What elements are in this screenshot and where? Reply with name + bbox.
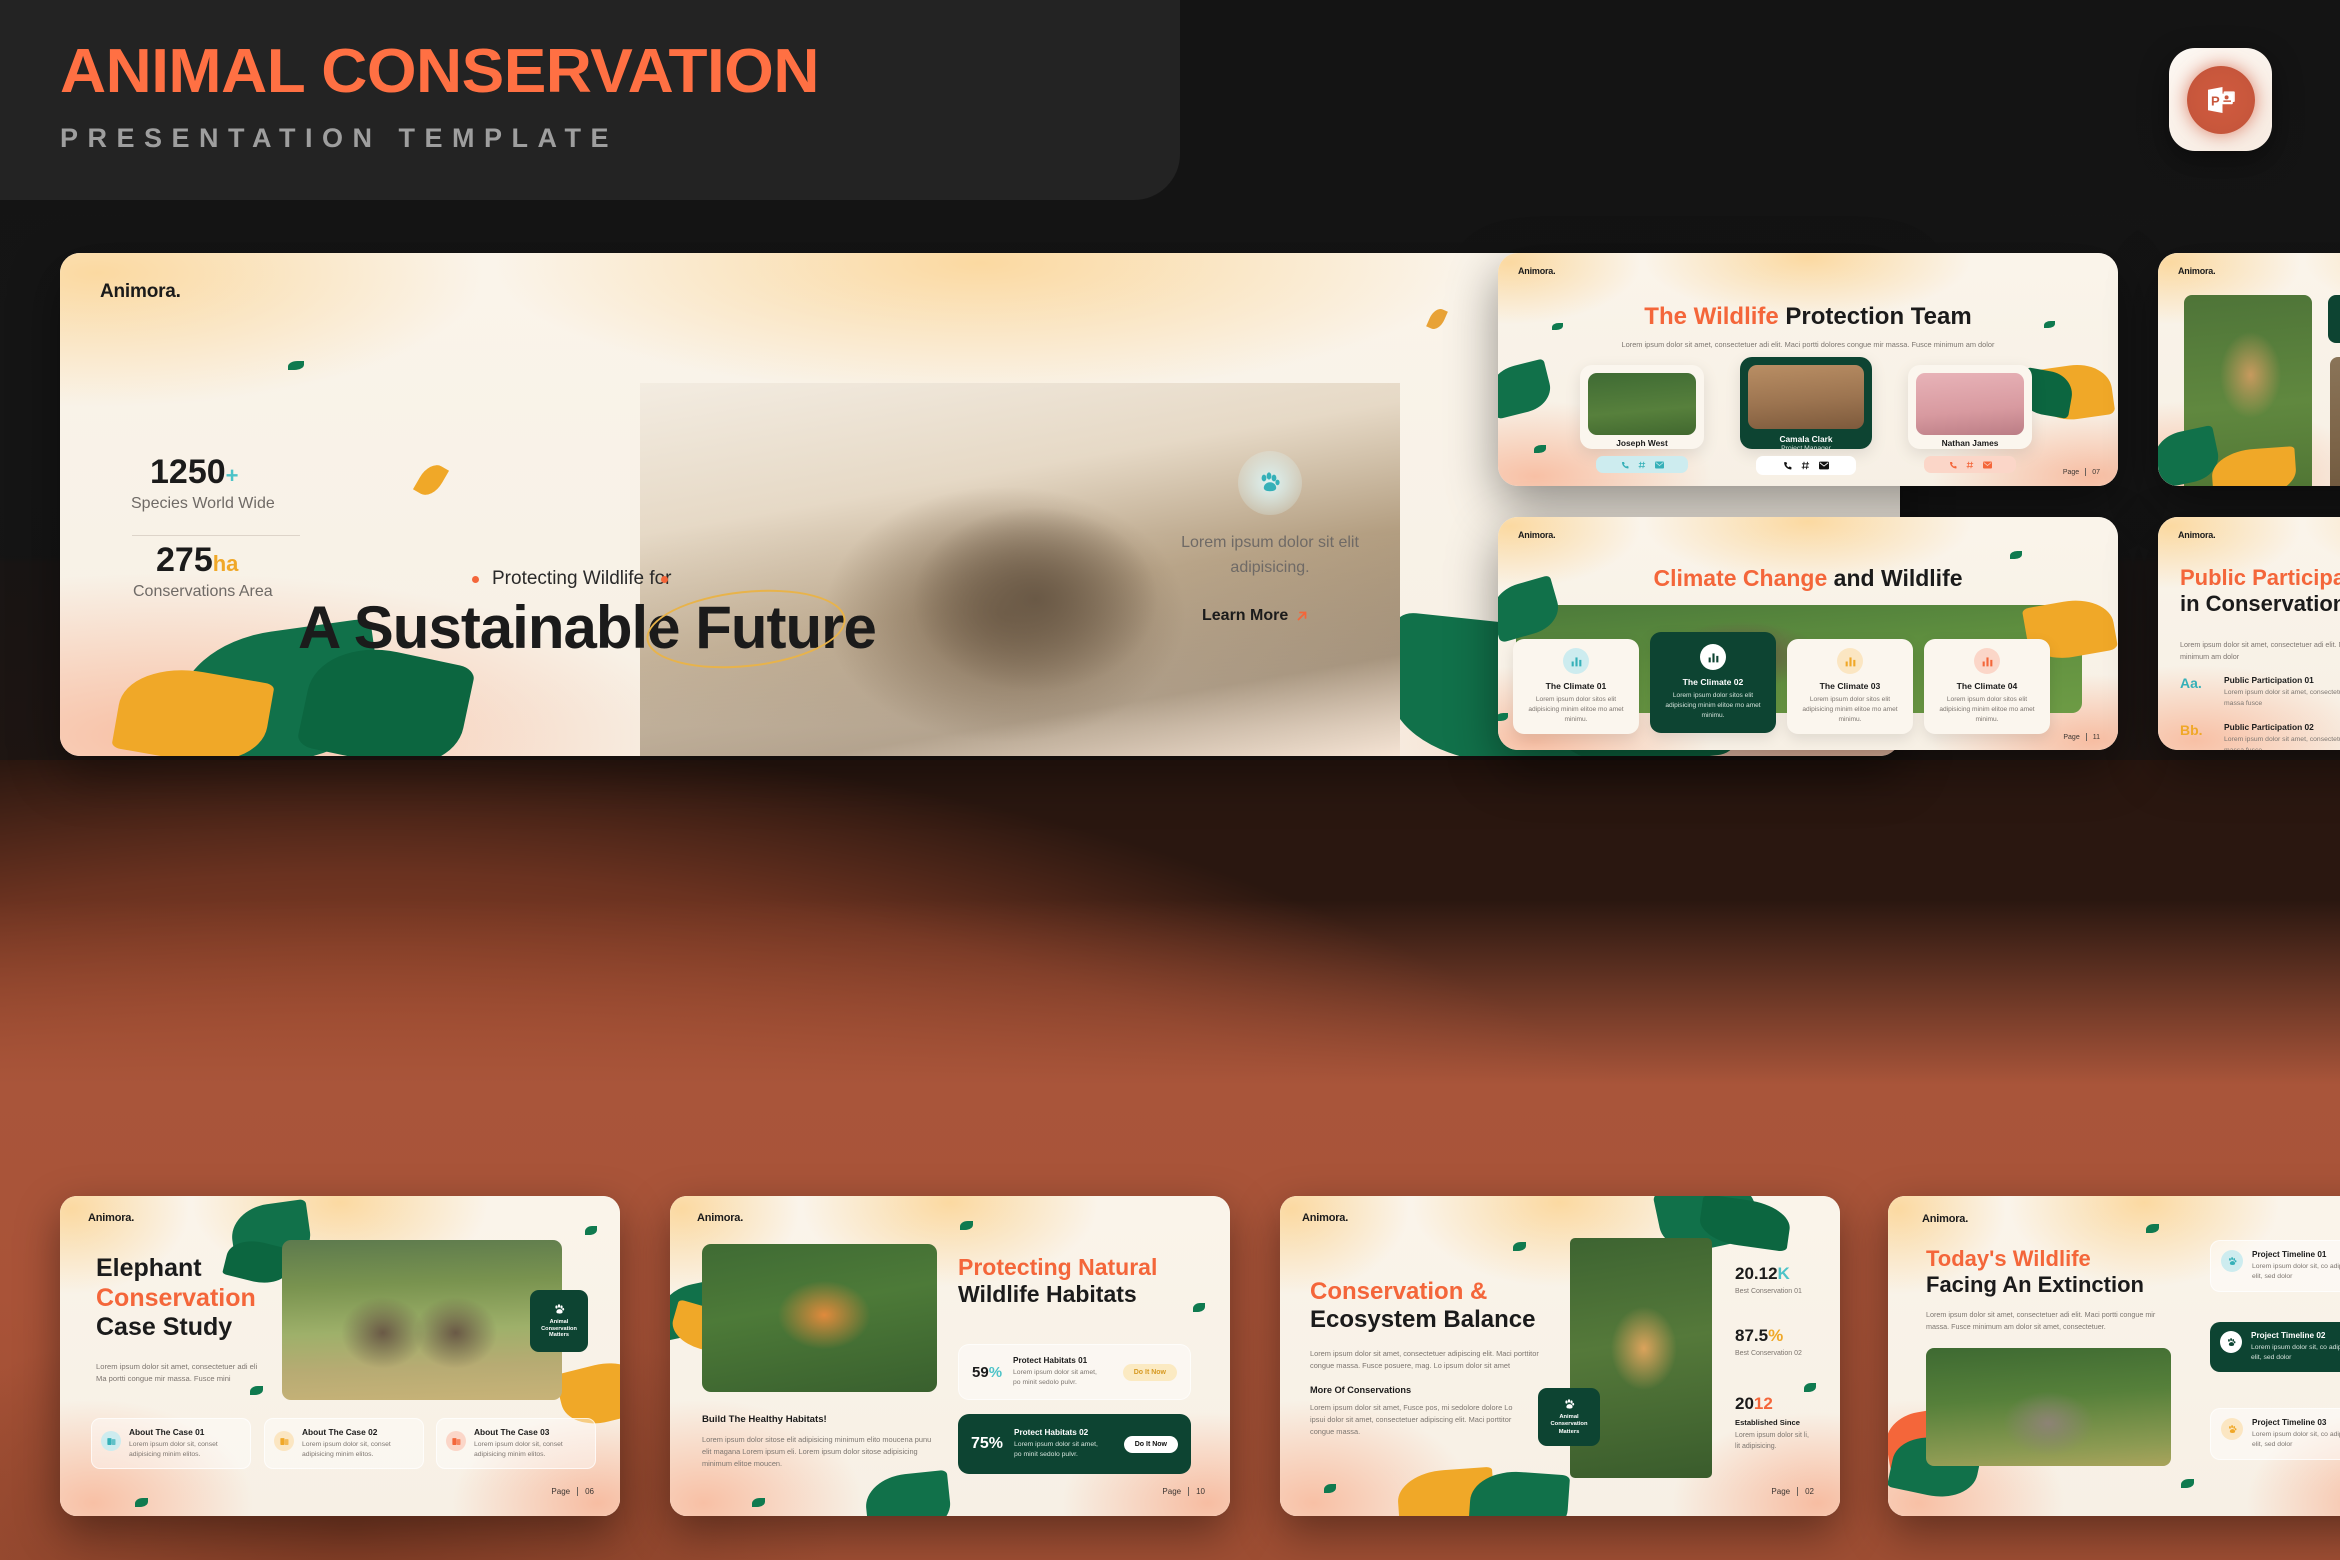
- team-member-card[interactable]: Camala Clark Project Manager: [1740, 357, 1872, 449]
- climate-card-icon-wrap: [1974, 648, 2000, 674]
- public-item-title: Public Participation 02: [2224, 722, 2340, 732]
- habitats-row-percent-value: 59: [972, 1364, 989, 1381]
- team-member-name: Joseph West: [1580, 438, 1704, 448]
- climate-card-desc: Lorem ipsum dolor sitos elit adipisicing…: [1795, 695, 1905, 725]
- team-member-contact-pill[interactable]: [1924, 456, 2016, 473]
- eco-brand: Animora.: [1302, 1212, 1348, 1224]
- hero-stat-2-unit: ha: [213, 551, 239, 576]
- phone-icon: [1783, 461, 1792, 470]
- team-title-accent: The Wildlife: [1644, 303, 1785, 330]
- case-page-value: 06: [585, 1487, 594, 1496]
- team-brand: Animora.: [1518, 266, 1555, 276]
- climate-card-desc: Lorem ipsum dolor sitos elit adipisicing…: [1521, 695, 1631, 725]
- lion-brand: Animora.: [2178, 266, 2215, 276]
- habitats-row-button[interactable]: Do It Now: [1124, 1436, 1178, 1453]
- case-conservation-badge: Animal Conservation Matters: [530, 1290, 588, 1352]
- team-member-photo: [1588, 373, 1696, 435]
- team-member-contact-pill[interactable]: [1756, 456, 1856, 475]
- slide-elephant-case-study[interactable]: Animora. Animal Conservation Matters Ele…: [60, 1196, 620, 1516]
- bottom-slide-row: Animora. Animal Conservation Matters Ele…: [60, 1196, 2340, 1516]
- hero-stat-divider: [132, 535, 300, 536]
- habitats-row-button[interactable]: Do It Now: [1123, 1364, 1177, 1381]
- public-subtitle: Lorem ipsum dolor sit amet, consectetuer…: [2180, 639, 2340, 662]
- extinction-body: Lorem ipsum dolor sit amet, consectetuer…: [1926, 1309, 2168, 1332]
- hero-stat-2-value: 275ha: [156, 541, 238, 580]
- climate-card-title: The Climate 04: [1932, 681, 2042, 691]
- habitats-row-title: Protect Habitats 02: [1014, 1428, 1113, 1437]
- team-title-rest: Protection Team: [1785, 303, 1971, 330]
- paw-icon: [1257, 470, 1283, 496]
- team-page-value: 07: [2092, 469, 2100, 476]
- lion-photo-secondary: [2330, 357, 2340, 486]
- eco-stat-value: 20.12K: [1735, 1264, 1802, 1284]
- slide-facing-extinction[interactable]: Animora. Today's Wildlife Facing An Exti…: [1888, 1196, 2340, 1516]
- habitats-headline-2: Wildlife Habitats: [958, 1281, 1137, 1307]
- climate-card-title: The Climate 03: [1795, 681, 1905, 691]
- eco-body: Lorem ipsum dolor sit amet, consectetuer…: [1310, 1348, 1546, 1372]
- phone-icon: [1949, 461, 1957, 469]
- paw-icon: [2227, 1424, 2238, 1435]
- case-card[interactable]: About The Case 01 Lorem ipsum dolor sit,…: [91, 1418, 251, 1469]
- hero-stat-1-label: Species World Wide: [131, 495, 275, 513]
- eco-sub-body: Lorem ipsum dolor sit amet, Fusce pos, m…: [1310, 1402, 1520, 1438]
- case-card[interactable]: About The Case 02 Lorem ipsum dolor sit,…: [264, 1418, 424, 1469]
- page-title: ANIMAL CONSERVATION: [60, 40, 819, 103]
- timeline-icon-wrap: [2220, 1331, 2242, 1353]
- habitats-row-percent-unit: %: [989, 1364, 1002, 1381]
- habitats-tiger-photo: [702, 1244, 937, 1392]
- climate-card-icon-wrap: [1700, 644, 1726, 670]
- hero-stat-2-label: Conservations Area: [133, 583, 273, 601]
- public-item-desc: Lorem ipsum dolor sit amet, consectetuer…: [2224, 688, 2340, 709]
- team-member-photo: [1748, 365, 1864, 429]
- slide-lion-gallery[interactable]: Animora.: [2158, 253, 2340, 486]
- powerpoint-icon: P: [2187, 66, 2255, 134]
- hero-learn-more-link[interactable]: Learn More: [1202, 607, 1309, 625]
- case-card-desc: Lorem ipsum dolor sit, conset adipisicin…: [474, 1440, 586, 1460]
- eco-stat-value: 2012: [1735, 1394, 1815, 1414]
- paw-icon: [2227, 1256, 2238, 1267]
- powerpoint-badge[interactable]: P: [2169, 48, 2272, 151]
- climate-page-value: 11: [2093, 734, 2100, 741]
- extinction-headline: Today's Wildlife Facing An Extinction: [1926, 1246, 2144, 1298]
- eco-stat: 20.12K Best Conservation 01: [1735, 1264, 1802, 1295]
- habitats-row-percent: 75%: [971, 1435, 1003, 1453]
- slide-ecosystem-balance[interactable]: Animora. Animal Conservation Matters Con…: [1280, 1196, 1840, 1516]
- habitats-row-desc: Lorem ipsum dolor sit amet, po minit sed…: [1013, 1368, 1105, 1388]
- extinction-timeline-card[interactable]: Project Timeline 01 Lorem ipsum dolor si…: [2210, 1240, 2340, 1292]
- case-card-desc: Lorem ipsum dolor sit, conset adipisicin…: [129, 1440, 241, 1460]
- public-item[interactable]: Bb. Public Participation 02 Lorem ipsum …: [2180, 722, 2340, 750]
- eco-badge-text: Animal Conservation Matters: [1543, 1414, 1595, 1436]
- hash-icon: [1638, 461, 1646, 469]
- eco-page-value: 02: [1805, 1487, 1814, 1496]
- eco-headline: Conservation & Ecosystem Balance: [1310, 1278, 1535, 1335]
- climate-card-desc: Lorem ipsum dolor sitos elit adipisicing…: [1658, 691, 1768, 721]
- public-item-letter: Bb.: [2180, 722, 2214, 750]
- team-page-word: Page: [2063, 469, 2079, 476]
- case-card-title: About The Case 02: [302, 1427, 414, 1437]
- timeline-icon-wrap: [2221, 1418, 2243, 1440]
- timeline-title: Project Timeline 03: [2252, 1418, 2340, 1427]
- page-header: ANIMAL CONSERVATION PRESENTATION TEMPLAT…: [60, 40, 797, 154]
- eco-headline-2: Ecosystem Balance: [1310, 1306, 1535, 1333]
- eco-stat-value: 87.5%: [1735, 1326, 1802, 1346]
- eco-stat-extra: Lorem ipsum dolor sit li, lit adipisicin…: [1735, 1431, 1815, 1453]
- hash-icon: [1801, 461, 1810, 470]
- climate-title-accent: Climate Change: [1653, 565, 1833, 591]
- team-page-number: Page 07: [2063, 468, 2100, 476]
- climate-card[interactable]: The Climate 01 Lorem ipsum dolor sitos e…: [1513, 639, 1639, 734]
- case-headline-3: Case Study: [96, 1313, 232, 1341]
- mail-icon: [1983, 461, 1992, 469]
- mail-icon: [1819, 461, 1829, 470]
- case-card-icon-wrap: [101, 1431, 121, 1451]
- slide-wildlife-protection-team[interactable]: Animora. The Wildlife Protection Team Lo…: [1498, 253, 2118, 486]
- case-card-title: About The Case 03: [474, 1427, 586, 1437]
- case-card[interactable]: About The Case 03 Lorem ipsum dolor sit,…: [436, 1418, 596, 1469]
- public-brand: Animora.: [2178, 530, 2215, 540]
- timeline-title: Project Timeline 02: [2251, 1331, 2340, 1340]
- team-member-name: Camala Clark: [1740, 434, 1872, 444]
- case-brand: Animora.: [88, 1212, 134, 1224]
- habitats-row-percent-value: 75: [971, 1435, 989, 1452]
- hero-learn-more-label: Learn More: [1202, 607, 1288, 625]
- team-member-photo: [1916, 373, 2024, 435]
- extinction-timeline-card[interactable]: Project Timeline 03 Lorem ipsum dolor si…: [2210, 1408, 2340, 1460]
- hero-kicker: Protecting Wildlife for: [492, 568, 672, 590]
- case-headline-2: Conservation: [96, 1284, 256, 1312]
- climate-card-icon-wrap: [1837, 648, 1863, 674]
- bar-chart-icon: [1844, 655, 1857, 668]
- case-body: Lorem ipsum dolor sit amet, consectetuer…: [96, 1361, 261, 1385]
- case-elephant-photo: [282, 1240, 562, 1400]
- climate-title: Climate Change and Wildlife: [1498, 565, 2118, 592]
- case-card-desc: Lorem ipsum dolor sit, conset adipisicin…: [302, 1440, 414, 1460]
- hero-stat-1-value: 1250+: [150, 453, 239, 492]
- bar-chart-icon: [1707, 651, 1720, 664]
- timeline-desc: Lorem ipsum dolor sit, co adipisicing el…: [2252, 1262, 2340, 1282]
- extinction-headline-1: Today's Wildlife: [1926, 1246, 2091, 1271]
- eco-page-number: Page 02: [1771, 1487, 1814, 1496]
- hero-stat-2-number: 275: [156, 541, 213, 579]
- eco-sub-title: More Of Conservations: [1310, 1385, 1411, 1395]
- eco-page-word: Page: [1771, 1487, 1790, 1496]
- case-page-number: Page 06: [551, 1487, 594, 1496]
- habitats-headline-1: Protecting Natural: [958, 1254, 1157, 1280]
- team-title: The Wildlife Protection Team: [1498, 303, 2118, 331]
- habitats-row[interactable]: 59% Protect Habitats 01 Lorem ipsum dolo…: [958, 1344, 1191, 1400]
- eco-stat-number: 20.12: [1735, 1264, 1778, 1283]
- habitats-sub-title: Build The Healthy Habitats!: [702, 1414, 827, 1425]
- eco-stat-number: 87.5: [1735, 1326, 1768, 1345]
- eco-stat: 87.5% Best Conservation 02: [1735, 1326, 1802, 1357]
- hero-kicker-dot-right: [661, 576, 668, 583]
- page-subtitle: PRESENTATION TEMPLATE: [60, 123, 797, 154]
- team-member-card[interactable]: Joseph West Company Co-Founder: [1580, 365, 1704, 449]
- team-subtitle: Lorem ipsum dolor sit amet, consectetuer…: [1562, 339, 2054, 350]
- case-card-icon-wrap: [446, 1431, 466, 1451]
- climate-card-icon-wrap: [1563, 648, 1589, 674]
- extinction-headline-2: Facing An Extinction: [1926, 1272, 2144, 1297]
- habitats-page-number: Page 10: [1162, 1487, 1205, 1496]
- book-icon: [451, 1436, 462, 1447]
- habitats-row-percent-unit: %: [989, 1435, 1003, 1452]
- timeline-desc: Lorem ipsum dolor sit, co adipisicing el…: [2252, 1430, 2340, 1450]
- hero-stat-1-unit: +: [226, 463, 239, 488]
- public-item[interactable]: Aa. Public Participation 01 Lorem ipsum …: [2180, 675, 2340, 709]
- timeline-icon-wrap: [2221, 1250, 2243, 1272]
- hero-kicker-dot-left: [472, 576, 479, 583]
- bar-chart-icon: [1981, 655, 1994, 668]
- habitats-page-value: 10: [1196, 1487, 1205, 1496]
- eco-stat-suffix: 12: [1754, 1394, 1773, 1413]
- habitats-row-percent: 59%: [972, 1364, 1002, 1381]
- extinction-brand: Animora.: [1922, 1213, 1968, 1225]
- eco-stat-suffix: K: [1778, 1264, 1790, 1283]
- book-icon: [106, 1436, 117, 1447]
- climate-card-desc: Lorem ipsum dolor sitos elit adipisicing…: [1932, 695, 2042, 725]
- climate-card-title: The Climate 01: [1521, 681, 1631, 691]
- climate-brand: Animora.: [1518, 530, 1555, 540]
- slide-public-participation[interactable]: Animora. Public Participation in Conserv…: [2158, 517, 2340, 750]
- eco-stat-label: Best Conservation 01: [1735, 1288, 1802, 1295]
- paw-icon: [1563, 1398, 1576, 1411]
- eco-conservation-badge: Animal Conservation Matters: [1538, 1388, 1600, 1446]
- case-badge-text: Animal Conservation Matters: [535, 1319, 583, 1340]
- public-item-title: Public Participation 01: [2224, 675, 2340, 685]
- case-page-word: Page: [551, 1487, 570, 1496]
- timeline-desc: Lorem ipsum dolor sit, co adipisicing el…: [2251, 1343, 2340, 1363]
- public-headline-2: in Conservation: [2180, 591, 2340, 616]
- hero-brand: Animora.: [100, 281, 181, 303]
- paw-icon: [2226, 1337, 2237, 1348]
- habitats-brand: Animora.: [697, 1212, 743, 1224]
- bar-chart-icon: [1570, 655, 1583, 668]
- climate-title-rest: and Wildlife: [1834, 565, 1963, 591]
- extinction-timeline-card[interactable]: Project Timeline 02 Lorem ipsum dolor si…: [2210, 1322, 2340, 1372]
- public-item-letter: Aa.: [2180, 675, 2214, 709]
- hash-icon: [1966, 461, 1974, 469]
- slide-protecting-habitats[interactable]: Animora. Protecting Natural Wildlife Hab…: [670, 1196, 1230, 1516]
- habitats-row-desc: Lorem ipsum dolor sit amet, po minit sed…: [1014, 1440, 1106, 1460]
- hero-body-text: Lorem ipsum dolor sit elit adipisicing.: [1170, 531, 1370, 581]
- svg-text:P: P: [2211, 93, 2220, 108]
- team-member-contact-pill[interactable]: [1596, 456, 1688, 473]
- arrow-up-right-icon: [1295, 609, 1309, 623]
- hero-stat-1-number: 1250: [150, 453, 226, 491]
- team-member-name: Nathan James: [1908, 438, 2032, 448]
- case-headline: Elephant Conservation Case Study: [96, 1254, 256, 1343]
- case-card-title: About The Case 01: [129, 1427, 241, 1437]
- habitats-headline: Protecting Natural Wildlife Habitats: [958, 1254, 1157, 1308]
- extinction-elephant-photo: [1926, 1348, 2171, 1466]
- hero-headline-part1: A Sustainable: [298, 594, 695, 661]
- public-headline-1: Public Participation: [2180, 565, 2340, 590]
- eco-stat-number: 20: [1735, 1394, 1754, 1413]
- public-headline: Public Participation in Conservation: [2180, 565, 2340, 617]
- eco-stat: 2012 Established Since Lorem ipsum dolor…: [1735, 1394, 1815, 1453]
- mail-icon: [1655, 461, 1664, 469]
- eco-stat-suffix: %: [1768, 1326, 1783, 1345]
- climate-page-number: Page 11: [2063, 733, 2100, 741]
- lion-dark-card: [2328, 295, 2340, 343]
- book-icon: [279, 1436, 290, 1447]
- timeline-title: Project Timeline 01: [2252, 1250, 2340, 1259]
- phone-icon: [1621, 461, 1629, 469]
- habitats-row[interactable]: 75% Protect Habitats 02 Lorem ipsum dolo…: [958, 1414, 1191, 1474]
- eco-headline-1: Conservation &: [1310, 1278, 1487, 1305]
- climate-card[interactable]: The Climate 04 Lorem ipsum dolor sitos e…: [1924, 639, 2050, 734]
- slide-public-background: [2158, 517, 2340, 750]
- paw-icon: [553, 1303, 566, 1316]
- case-card-icon-wrap: [274, 1431, 294, 1451]
- climate-card-title: The Climate 02: [1658, 677, 1768, 687]
- public-item-desc: Lorem ipsum dolor sit amet, consectetuer…: [2224, 735, 2340, 750]
- case-headline-1: Elephant: [96, 1254, 202, 1282]
- team-member-role: Project Manager: [1740, 445, 1872, 449]
- eco-stat-label: Established Since: [1735, 1418, 1815, 1427]
- climate-card[interactable]: The Climate 03 Lorem ipsum dolor sitos e…: [1787, 639, 1913, 734]
- hero-paw-badge: [1238, 451, 1302, 515]
- eco-stat-label: Best Conservation 02: [1735, 1350, 1802, 1357]
- habitats-sub-body: Lorem ipsum dolor sitose elit adipisicin…: [702, 1434, 937, 1470]
- slide-climate-change[interactable]: Animora. Climate Change and Wildlife The…: [1498, 517, 2118, 750]
- team-member-card[interactable]: Nathan James Finance Manager: [1908, 365, 2032, 449]
- climate-page-word: Page: [2063, 734, 2079, 741]
- climate-card[interactable]: The Climate 02 Lorem ipsum dolor sitos e…: [1650, 632, 1776, 733]
- habitats-page-word: Page: [1162, 1487, 1181, 1496]
- habitats-row-title: Protect Habitats 01: [1013, 1356, 1112, 1365]
